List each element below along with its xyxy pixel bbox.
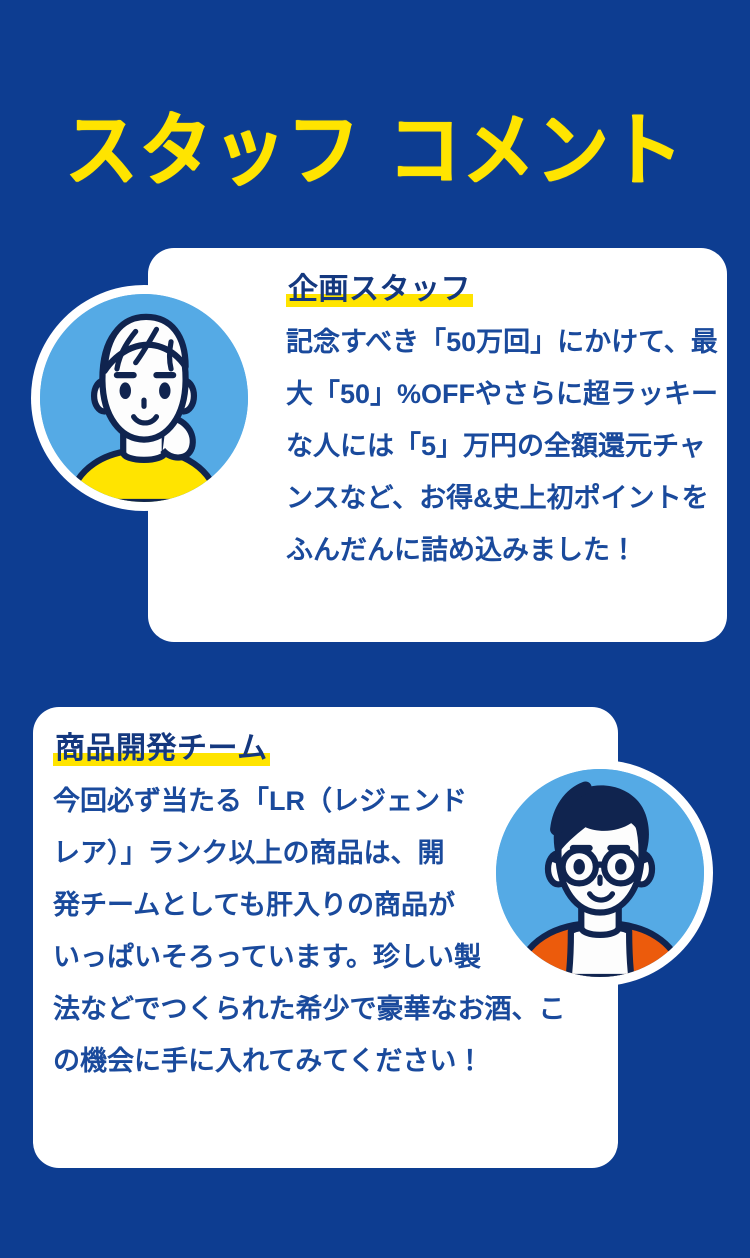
card-text-planning-staff: 記念すべき「50万回」にかけて、最 大「50」%OFFやさらに超ラッキー な人に… bbox=[286, 316, 716, 576]
man-with-glasses-illustration-icon bbox=[496, 769, 704, 977]
card-text-product-development-team: 今回必ず当たる「LR（レジェンド レア）」ランク以上の商品は、開 発チームとして… bbox=[53, 775, 483, 1087]
page-title-container: スタッフ コメント bbox=[0, 62, 750, 230]
staff-comment-page: スタッフ コメント 企画スタッフ 記念すべき「50万回」にかけて、最 大「50」… bbox=[0, 0, 750, 1258]
page-title: スタッフ コメント bbox=[65, 110, 684, 191]
text-line: の機会に手に入れてみてください！ bbox=[53, 1035, 483, 1087]
text-line: レア）」ランク以上の商品は、開 bbox=[53, 827, 483, 879]
text-line: 発チームとしても肝入りの商品が bbox=[53, 879, 483, 931]
text-line: ンスなど、お得&史上初ポイントを bbox=[286, 472, 716, 524]
text-line: 今回必ず当たる「LR（レジェンド bbox=[53, 775, 483, 827]
card-heading-text: 商品開発チーム bbox=[55, 732, 268, 765]
card-body-product-development-team: 商品開発チーム 今回必ず当たる「LR（レジェンド レア）」ランク以上の商品は、開… bbox=[53, 731, 483, 1087]
text-line: 法などでつくられた希少で豪華なお酒、こ bbox=[53, 983, 483, 1035]
avatar-circle bbox=[40, 294, 248, 502]
avatar-product-development-team bbox=[487, 760, 713, 986]
woman-illustration-icon bbox=[40, 294, 248, 502]
avatar-planning-staff bbox=[31, 285, 257, 511]
text-line: 記念すべき「50万回」にかけて、最 bbox=[286, 316, 716, 368]
card-heading-product-development-team: 商品開発チーム bbox=[53, 731, 270, 767]
text-line: ふんだんに詰め込みました！ bbox=[286, 524, 716, 576]
card-heading-planning-staff: 企画スタッフ bbox=[286, 272, 473, 308]
text-line: 大「50」%OFFやさらに超ラッキー bbox=[286, 368, 716, 420]
card-body-planning-staff: 企画スタッフ 記念すべき「50万回」にかけて、最 大「50」%OFFやさらに超ラ… bbox=[286, 272, 716, 576]
avatar-circle bbox=[496, 769, 704, 977]
text-line: な人には「5」万円の全額還元チャ bbox=[286, 420, 716, 472]
card-heading-text: 企画スタッフ bbox=[288, 273, 471, 306]
text-line: いっぱいそろっています。珍しい製 bbox=[53, 931, 483, 983]
